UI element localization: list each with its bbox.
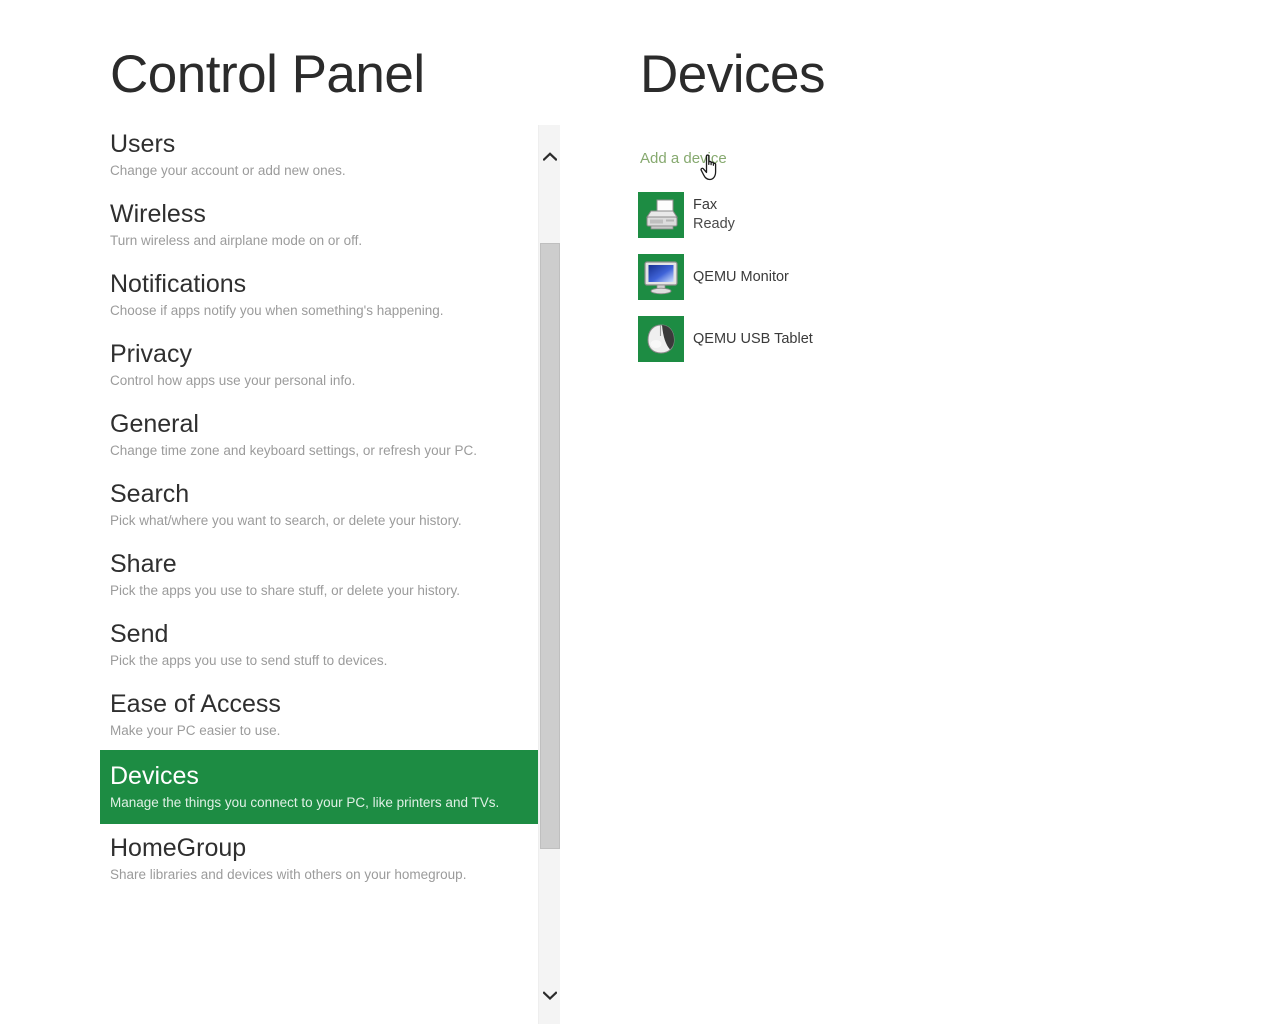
- settings-item-privacy[interactable]: PrivacyControl how apps use your persona…: [0, 330, 538, 400]
- settings-item-search[interactable]: SearchPick what/where you want to search…: [0, 470, 538, 540]
- settings-scrollbar[interactable]: [538, 125, 560, 1024]
- settings-item-homegroup[interactable]: HomeGroupShare libraries and devices wit…: [0, 824, 538, 894]
- settings-item-notifications[interactable]: NotificationsChoose if apps notify you w…: [0, 260, 538, 330]
- device-name: Fax: [693, 196, 735, 215]
- settings-item-description: Pick the apps you use to share stuff, or…: [110, 581, 538, 600]
- monitor-icon: [638, 254, 684, 300]
- control-panel-pane: Control Panel UsersChange your account o…: [0, 0, 560, 1024]
- device-status: Ready: [693, 215, 735, 234]
- settings-item-description: Pick the apps you use to send stuff to d…: [110, 651, 538, 670]
- settings-item-description: Turn wireless and airplane mode on or of…: [110, 231, 538, 250]
- settings-item-title: Share: [110, 549, 538, 579]
- settings-item-description: Make your PC easier to use.: [110, 721, 538, 740]
- settings-item-title: Notifications: [110, 269, 538, 299]
- settings-item-users[interactable]: UsersChange your account or add new ones…: [0, 120, 538, 190]
- device-list-item[interactable]: QEMU USB Tablet: [638, 316, 1058, 362]
- device-list-item[interactable]: QEMU Monitor: [638, 254, 1058, 300]
- settings-item-title: General: [110, 409, 538, 439]
- settings-item-title: Send: [110, 619, 538, 649]
- settings-item-title: HomeGroup: [110, 833, 538, 863]
- settings-item-description: Manage the things you connect to your PC…: [110, 793, 540, 812]
- fax-icon: [638, 192, 684, 238]
- page-title: Control Panel: [110, 48, 425, 101]
- settings-item-title: Ease of Access: [110, 689, 538, 719]
- settings-item-devices[interactable]: DevicesManage the things you connect to …: [100, 750, 540, 824]
- device-text: FaxReady: [693, 196, 735, 234]
- scrollbar-thumb[interactable]: [540, 243, 560, 849]
- device-text: QEMU USB Tablet: [693, 330, 813, 349]
- control-panel-screen: Control Panel UsersChange your account o…: [0, 0, 1280, 1024]
- settings-item-title: Wireless: [110, 199, 538, 229]
- device-text: QEMU Monitor: [693, 268, 789, 287]
- settings-item-title: Privacy: [110, 339, 538, 369]
- settings-item-description: Share libraries and devices with others …: [110, 865, 538, 884]
- settings-item-title: Devices: [110, 761, 540, 791]
- settings-list: UsersChange your account or add new ones…: [0, 120, 538, 894]
- settings-item-wireless[interactable]: WirelessTurn wireless and airplane mode …: [0, 190, 538, 260]
- devices-pane: Devices Add a device FaxReadyQEMU Monito…: [600, 0, 1280, 1024]
- settings-item-description: Change time zone and keyboard settings, …: [110, 441, 538, 460]
- settings-item-general[interactable]: GeneralChange time zone and keyboard set…: [0, 400, 538, 470]
- settings-item-send[interactable]: SendPick the apps you use to send stuff …: [0, 610, 538, 680]
- add-a-device-link[interactable]: Add a device: [640, 150, 727, 167]
- device-list-item[interactable]: FaxReady: [638, 192, 1058, 238]
- device-name: QEMU Monitor: [693, 268, 789, 287]
- device-list: FaxReadyQEMU MonitorQEMU USB Tablet: [638, 192, 1058, 378]
- settings-item-description: Pick what/where you want to search, or d…: [110, 511, 538, 530]
- settings-item-ease-of-access[interactable]: Ease of AccessMake your PC easier to use…: [0, 680, 538, 750]
- scroll-down-icon[interactable]: [539, 984, 561, 1006]
- settings-item-share[interactable]: SharePick the apps you use to share stuf…: [0, 540, 538, 610]
- devices-page-title: Devices: [640, 48, 825, 101]
- settings-item-description: Choose if apps notify you when something…: [110, 301, 538, 320]
- settings-item-title: Search: [110, 479, 538, 509]
- settings-item-description: Change your account or add new ones.: [110, 161, 538, 180]
- settings-item-title: Users: [110, 129, 538, 159]
- device-name: QEMU USB Tablet: [693, 330, 813, 349]
- scroll-up-icon[interactable]: [539, 145, 561, 167]
- mouse-icon: [638, 316, 684, 362]
- settings-item-description: Control how apps use your personal info.: [110, 371, 538, 390]
